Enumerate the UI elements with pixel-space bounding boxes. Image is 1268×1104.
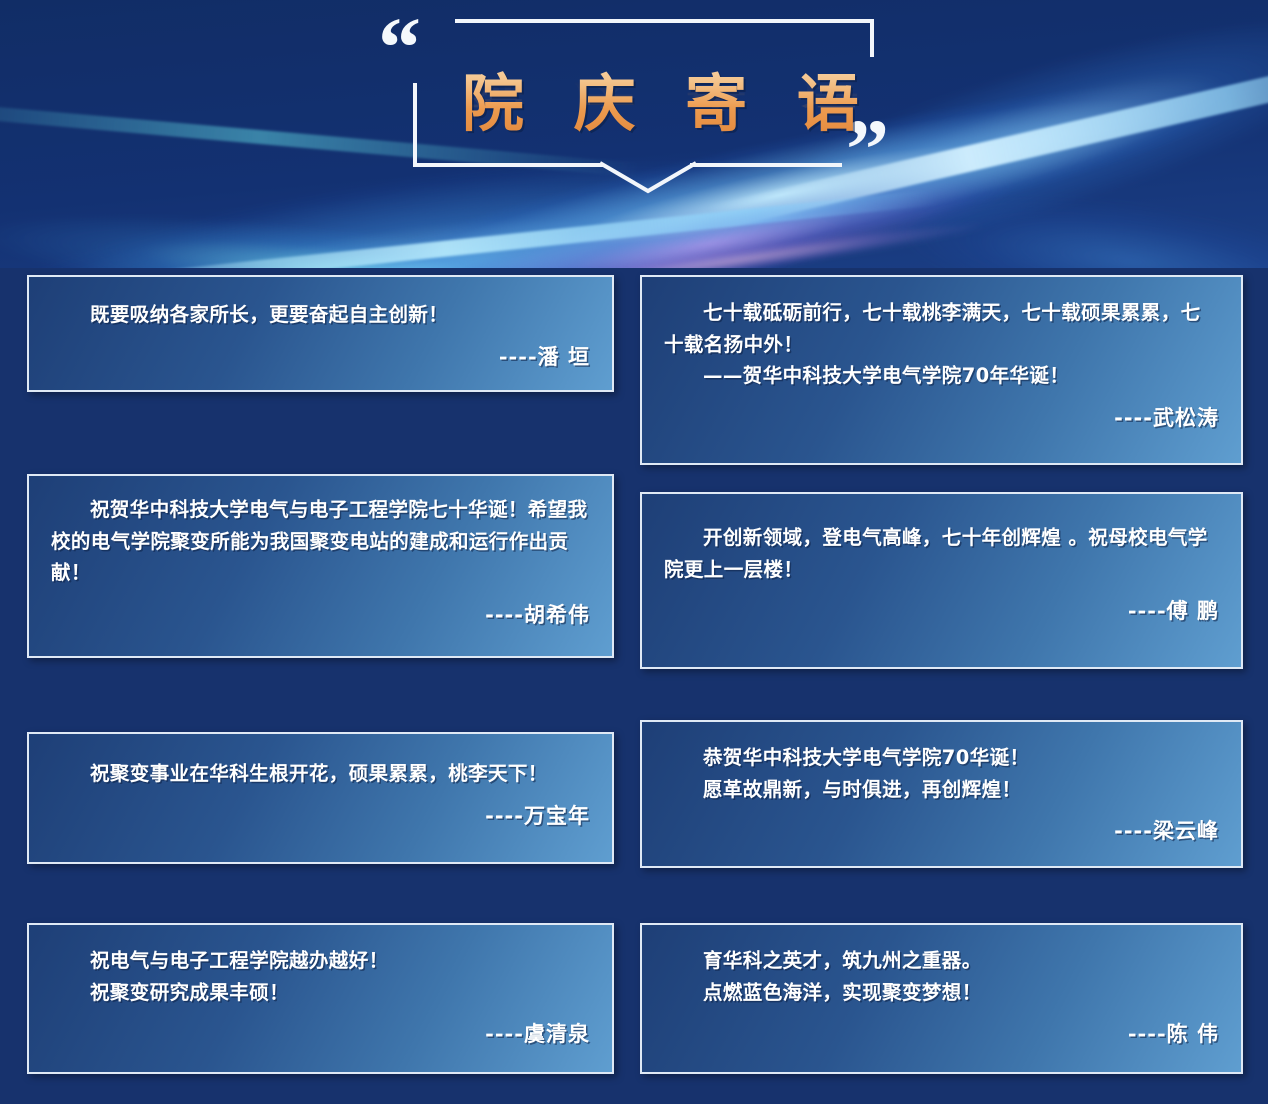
message-line: ——贺华中科技大学电气学院70年华诞！ — [664, 360, 1219, 392]
message-card[interactable]: 祝电气与电子工程学院越办越好！ 祝聚变研究成果丰硕！ ----虞清泉 — [27, 923, 614, 1074]
message-card[interactable]: 祝聚变事业在华科生根开花，硕果累累，桃李天下！ ----万宝年 — [27, 732, 614, 864]
message-line: 祝聚变事业在华科生根开花，硕果累累，桃李天下！ — [51, 758, 590, 790]
anniversary-messages-page: “ ” 院 庆 寄 语 院 庆 寄 语 既要吸纳各家所长，更要奋起自主创新！ -… — [0, 0, 1268, 1104]
message-signature: ----梁云峰 — [664, 815, 1219, 845]
frame-bottom-right-line — [690, 163, 842, 167]
message-card[interactable]: 既要吸纳各家所长，更要奋起自主创新！ ----潘 垣 — [27, 275, 614, 392]
message-line: 恭贺华中科技大学电气学院70华诞！ — [664, 742, 1219, 774]
open-quote-icon: “ — [378, 4, 423, 90]
message-body: 育华科之英才，筑九州之重器。 点燃蓝色海洋，实现聚变梦想！ — [664, 945, 1219, 1008]
message-body: 恭贺华中科技大学电气学院70华诞！ 愿革故鼎新，与时俱进，再创辉煌！ — [664, 742, 1219, 805]
message-body: 既要吸纳各家所长，更要奋起自主创新！ — [51, 299, 590, 331]
frame-bottom-left-line — [413, 163, 603, 167]
message-card[interactable]: 七十载砥砺前行，七十载桃李满天，七十载硕果累累，七十载名扬中外！ ——贺华中科技… — [640, 275, 1243, 465]
frame-chevron-notch — [600, 160, 696, 194]
message-card[interactable]: 开创新领域，登电气高峰，七十年创辉煌 。祝母校电气学院更上一层楼！ ----傅 … — [640, 492, 1243, 669]
frame-top-line — [455, 19, 874, 23]
message-line: 祝电气与电子工程学院越办越好！ — [51, 945, 590, 977]
message-line: 七十载砥砺前行，七十载桃李满天，七十载硕果累累，七十载名扬中外！ — [664, 297, 1219, 360]
message-signature: ----陈 伟 — [664, 1018, 1219, 1048]
message-card[interactable]: 育华科之英才，筑九州之重器。 点燃蓝色海洋，实现聚变梦想！ ----陈 伟 — [640, 923, 1243, 1074]
banner-title: 院 庆 寄 语 — [462, 53, 873, 143]
message-body: 开创新领域，登电气高峰，七十年创辉煌 。祝母校电气学院更上一层楼！ — [664, 522, 1219, 585]
message-signature: ----万宝年 — [51, 800, 590, 830]
message-line: 开创新领域，登电气高峰，七十年创辉煌 。祝母校电气学院更上一层楼！ — [664, 522, 1219, 585]
frame-top-right-corner — [870, 19, 874, 57]
message-body: 祝电气与电子工程学院越办越好！ 祝聚变研究成果丰硕！ — [51, 945, 590, 1008]
message-line: 育华科之英才，筑九州之重器。 — [664, 945, 1219, 977]
message-body: 祝聚变事业在华科生根开花，硕果累累，桃李天下！ — [51, 758, 590, 790]
message-line: 既要吸纳各家所长，更要奋起自主创新！ — [51, 299, 590, 331]
message-line: 点燃蓝色海洋，实现聚变梦想！ — [664, 977, 1219, 1009]
frame-left-line — [413, 83, 417, 167]
message-signature: ----胡希伟 — [51, 599, 590, 629]
header-banner: “ ” 院 庆 寄 语 院 庆 寄 语 — [0, 0, 1268, 268]
message-body: 祝贺华中科技大学电气与电子工程学院七十华诞！希望我校的电气学院聚变所能为我国聚变… — [51, 494, 590, 589]
message-signature: ----虞清泉 — [51, 1018, 590, 1048]
message-line: 祝聚变研究成果丰硕！ — [51, 977, 590, 1009]
message-signature: ----潘 垣 — [51, 341, 590, 371]
message-line: 愿革故鼎新，与时俱进，再创辉煌！ — [664, 774, 1219, 806]
message-signature: ----傅 鹏 — [664, 595, 1219, 625]
message-card[interactable]: 恭贺华中科技大学电气学院70华诞！ 愿革故鼎新，与时俱进，再创辉煌！ ----梁… — [640, 720, 1243, 868]
message-line: 祝贺华中科技大学电气与电子工程学院七十华诞！希望我校的电气学院聚变所能为我国聚变… — [51, 494, 590, 589]
message-card[interactable]: 祝贺华中科技大学电气与电子工程学院七十华诞！希望我校的电气学院聚变所能为我国聚变… — [27, 474, 614, 658]
message-body: 七十载砥砺前行，七十载桃李满天，七十载硕果累累，七十载名扬中外！ ——贺华中科技… — [664, 297, 1219, 392]
message-signature: ----武松涛 — [664, 402, 1219, 432]
